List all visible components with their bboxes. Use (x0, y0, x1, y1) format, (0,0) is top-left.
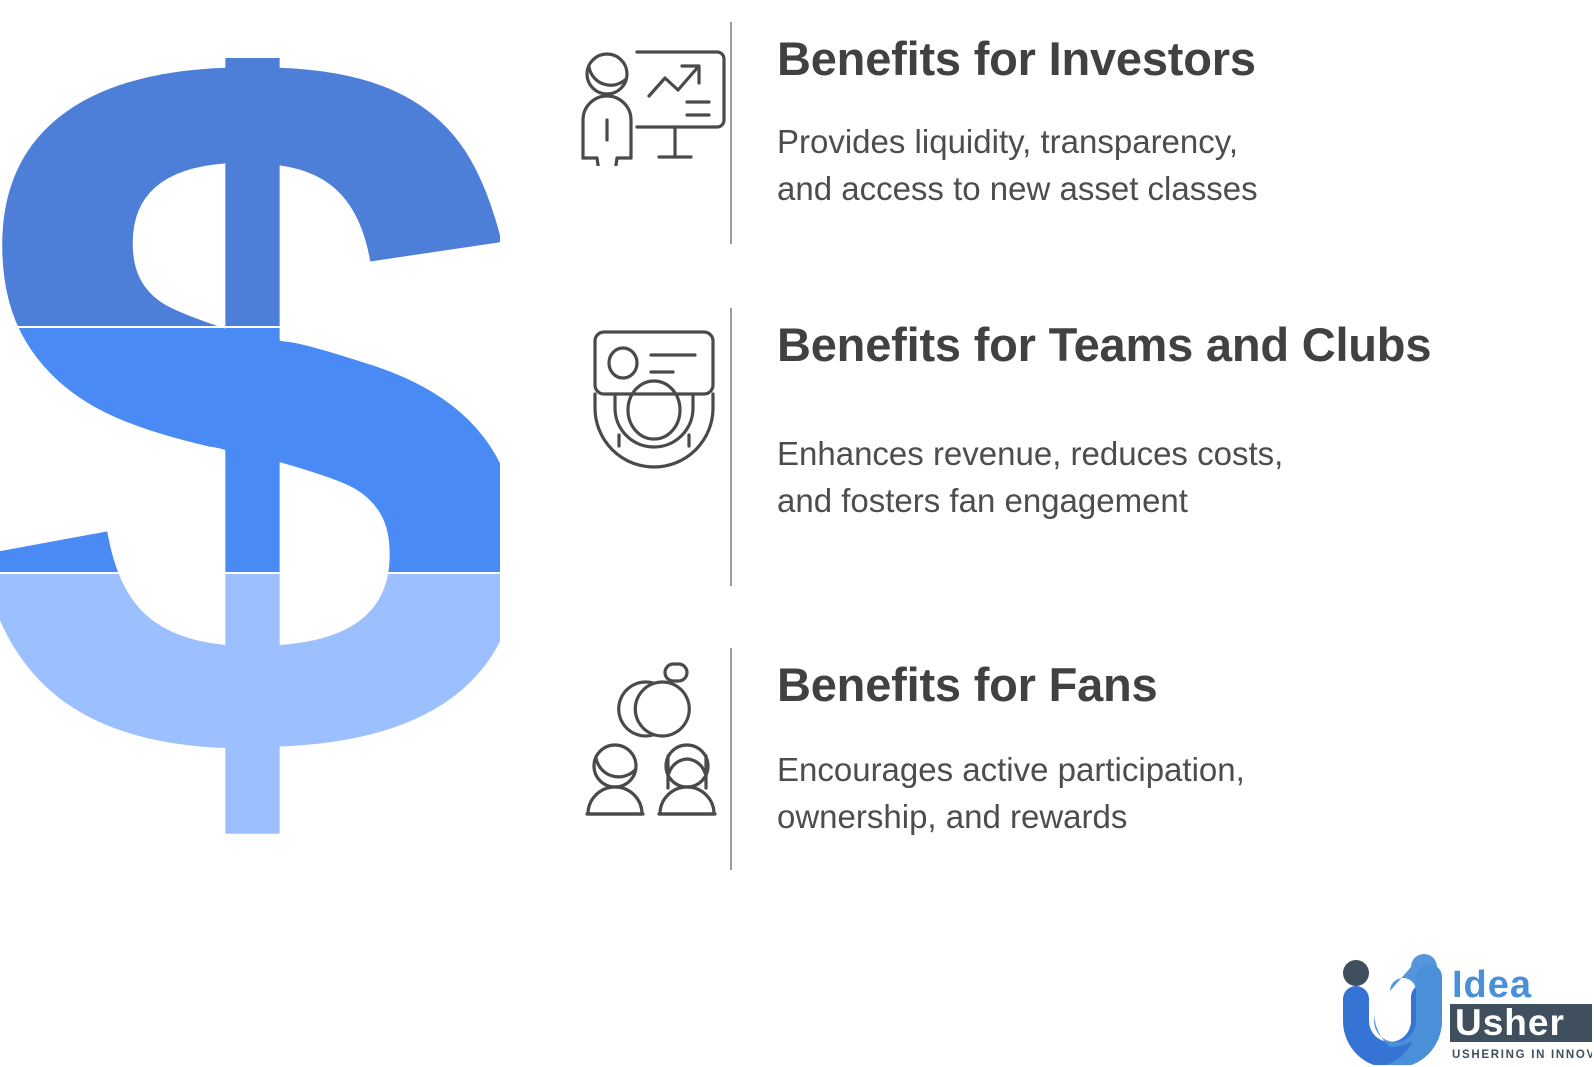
benefit-title-teams-clubs: Benefits for Teams and Clubs (777, 310, 1457, 380)
benefit-description-teams-clubs: Enhances revenue, reduces costs, and fos… (777, 430, 1457, 526)
benefit-description-fans: Encourages active participation, ownersh… (777, 746, 1457, 842)
benefits-list: Benefits for Investors Provides liquidit… (570, 0, 1594, 900)
logo-tagline: USHERING IN INNOVATION (1452, 1049, 1592, 1061)
benefit-divider (730, 22, 732, 244)
logo-word-usher: Usher (1455, 1002, 1565, 1043)
dollar-sign-graphic: $ (0, 58, 500, 858)
logo-word-idea: Idea (1452, 964, 1532, 1006)
dollar-segment-middle (0, 328, 500, 572)
scoreboard-stadium-icon (570, 308, 730, 472)
benefit-description-investors: Provides liquidity, transparency, and ac… (777, 118, 1457, 214)
benefit-item-fans: Benefits for Fans Encourages active part… (570, 648, 1457, 870)
benefit-title-investors: Benefits for Investors (777, 24, 1457, 94)
benefit-divider (730, 648, 732, 870)
benefit-item-teams-clubs: Benefits for Teams and Clubs Enhances re… (570, 308, 1457, 586)
brand-logo-idea-usher: Idea Usher USHERING IN INNOVATION (1324, 947, 1592, 1065)
benefit-divider (730, 308, 732, 586)
fans-group-icon (570, 648, 730, 821)
logo-dot-icon (1343, 960, 1369, 986)
dollar-segment-top (0, 58, 500, 326)
benefit-item-investors: Benefits for Investors Provides liquidit… (570, 22, 1457, 244)
benefit-title-fans: Benefits for Fans (777, 650, 1457, 720)
presenter-chart-board-icon (570, 22, 730, 166)
dollar-segment-bottom (0, 574, 500, 858)
